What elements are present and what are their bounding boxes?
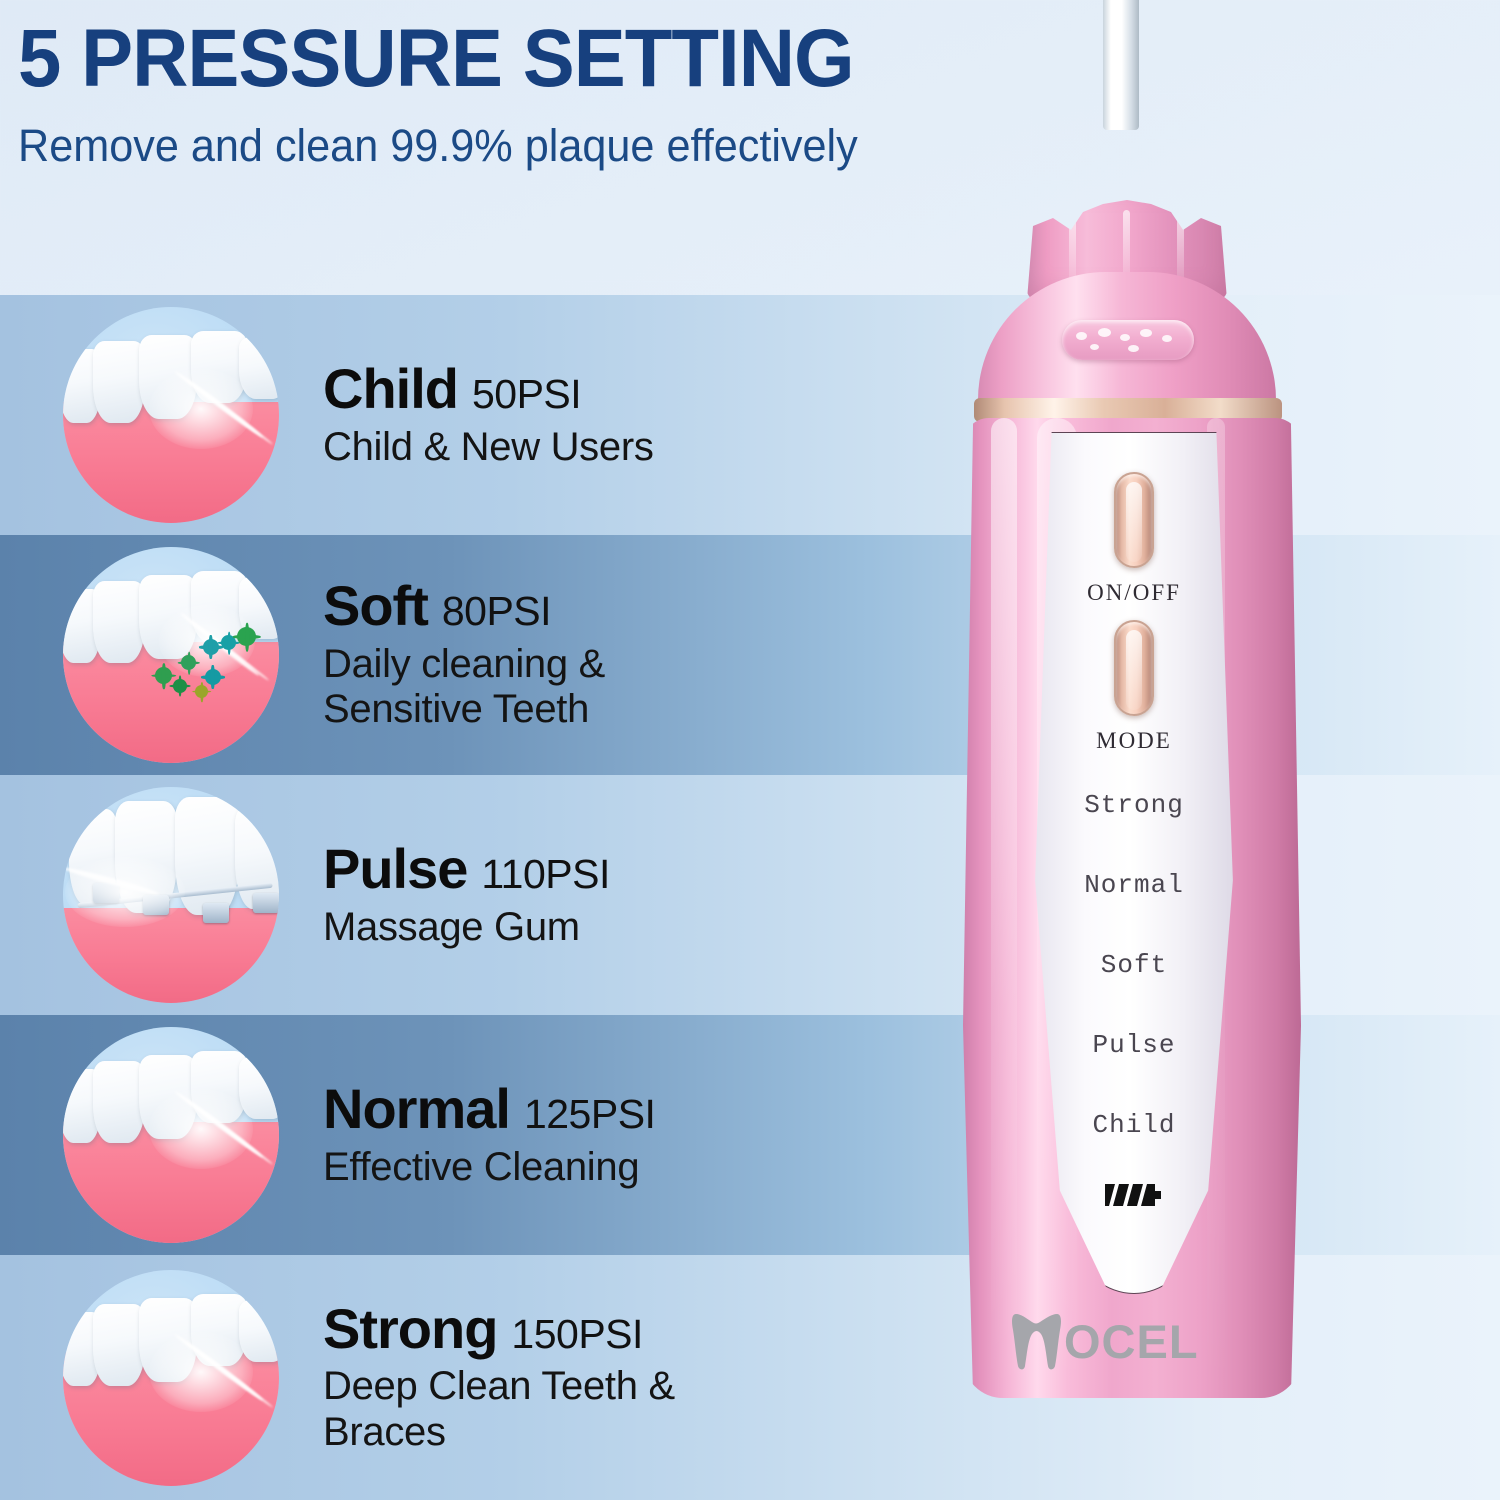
feature-text: Soft80PSIDaily cleaning & Sensitive Teet… — [323, 577, 605, 733]
feature-mode-name: Normal — [323, 1077, 510, 1140]
feature-heading: Strong150PSI — [323, 1300, 675, 1359]
mode-button[interactable] — [1114, 620, 1154, 716]
brand-name: OCEL — [1064, 1314, 1199, 1369]
feature-psi-value: 150PSI — [511, 1311, 643, 1357]
feature-mode-name: Pulse — [323, 837, 467, 900]
battery-level-icon — [1103, 1180, 1165, 1210]
bacteria-icon — [195, 685, 208, 698]
braces-bracket — [253, 893, 279, 913]
feature-heading: Soft80PSI — [323, 577, 605, 636]
feature-description: Child & New Users — [323, 425, 654, 471]
feature-description: Deep Clean Teeth & Braces — [323, 1364, 675, 1455]
feature-text: Strong150PSIDeep Clean Teeth & Braces — [323, 1300, 675, 1456]
teeth-braces-icon — [63, 787, 279, 1003]
feature-text: Normal125PSIEffective Cleaning — [323, 1080, 655, 1190]
mode-indicator-normal: Normal — [1031, 870, 1237, 900]
braces-bracket — [203, 903, 229, 923]
water-spray — [149, 1089, 253, 1169]
power-button[interactable] — [1114, 472, 1154, 568]
bacteria-icon — [173, 679, 187, 693]
feature-mode-name: Soft — [323, 574, 428, 637]
feature-heading: Child50PSI — [323, 360, 654, 419]
tooth — [93, 1061, 145, 1143]
feature-description: Effective Cleaning — [323, 1145, 655, 1191]
mode-button-label: MODE — [1031, 728, 1237, 754]
feature-mode-name: Strong — [323, 1297, 497, 1360]
teeth-water-jet-icon — [63, 307, 279, 523]
water-spray — [149, 1332, 253, 1412]
feature-psi-value: 110PSI — [481, 851, 609, 897]
feature-heading: Pulse110PSI — [323, 840, 610, 899]
tooth — [175, 797, 239, 915]
bacteria-icon — [237, 627, 256, 646]
button-highlight — [1126, 630, 1142, 710]
tooth — [93, 1304, 145, 1386]
tooth — [93, 581, 145, 663]
power-button-label: ON/OFF — [1031, 580, 1237, 606]
mode-indicator-strong: Strong — [1031, 790, 1237, 820]
mode-indicator-pulse: Pulse — [1031, 1030, 1237, 1060]
nozzle-tube-icon — [1103, 0, 1139, 130]
feature-text: Pulse110PSIMassage Gum — [323, 840, 610, 950]
button-highlight — [1126, 482, 1142, 562]
feature-heading: Normal125PSI — [323, 1080, 655, 1139]
teeth-bacteria-icon — [63, 547, 279, 763]
page-subtitle: Remove and clean 99.9% plaque effectivel… — [18, 120, 1057, 172]
feature-text: Child50PSIChild & New Users — [323, 360, 654, 470]
feature-psi-value: 80PSI — [442, 588, 551, 634]
water-spray — [65, 857, 185, 927]
mode-indicator-child: Child — [1031, 1110, 1237, 1140]
page-title: 5 PRESSURE SETTING — [18, 18, 1046, 100]
mode-indicator-soft: Soft — [1031, 950, 1237, 980]
teeth-deep-clean-icon — [63, 1270, 279, 1486]
feature-description: Daily cleaning & Sensitive Teeth — [323, 642, 605, 733]
header: 5 PRESSURE SETTING Remove and clean 99.9… — [0, 0, 1100, 295]
feature-psi-value: 50PSI — [472, 371, 581, 417]
tooth — [93, 341, 145, 423]
teeth-cleaning-icon — [63, 1027, 279, 1243]
tooth-m-icon — [1010, 1310, 1062, 1372]
feature-psi-value: 125PSI — [524, 1091, 656, 1137]
nozzle-release-button[interactable] — [1062, 320, 1194, 360]
bacteria-icon — [155, 667, 172, 684]
feature-mode-name: Child — [323, 357, 458, 420]
bacteria-icon — [205, 669, 221, 685]
feature-description: Massage Gum — [323, 905, 610, 951]
water-spray — [149, 369, 253, 449]
brand-logo: OCEL — [1010, 1305, 1260, 1377]
bacteria-icon — [181, 655, 196, 670]
